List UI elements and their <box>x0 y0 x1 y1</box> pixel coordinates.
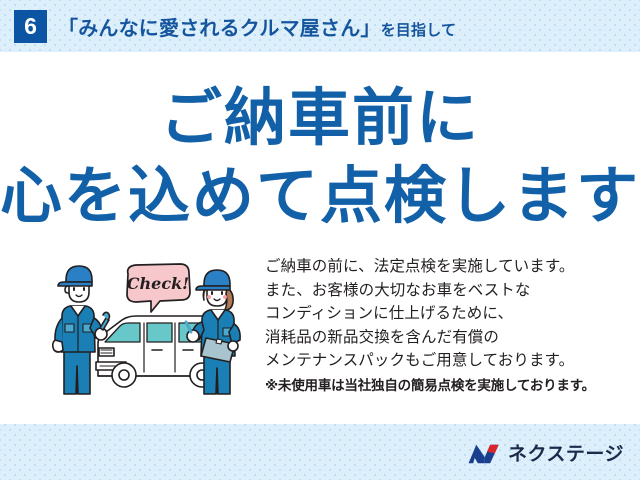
body-note: ※未使用車は当社独自の簡易点検を実施しております。 <box>265 375 620 397</box>
header-title: 「みんなに愛されるクルマ屋さん」を目指して <box>58 12 456 41</box>
header-title-quoted: 「みんなに愛されるクルマ屋さん」 <box>58 18 381 40</box>
body-line: また、お客様の大切なお車をベストな <box>265 279 620 303</box>
content-card: ご納車前に 心を込めて点検します ご納車の前に、法定点検を実施しています。 また… <box>0 52 640 424</box>
header-band: 6 「みんなに愛されるクルマ屋さん」を目指して <box>0 0 640 52</box>
header-title-suffix: を目指して <box>381 22 457 39</box>
body-line: コンディションに仕上げるために、 <box>265 302 620 326</box>
body-copy: ご納車の前に、法定点検を実施しています。 また、お客様の大切なお車をベストな コ… <box>265 255 620 397</box>
check-bubble-text: Check! <box>127 274 189 293</box>
section-number: 6 <box>24 15 37 38</box>
body-line: 消耗品の新品交換を含んだ有償の <box>265 326 620 350</box>
nextage-n-mark <box>467 442 501 466</box>
advertisement-page: 6 「みんなに愛されるクルマ屋さん」を目指して ご納車前に 心を込めて点検します… <box>0 0 640 480</box>
nextage-logo: ネクステージ <box>467 442 624 466</box>
headline-line-1: ご納車前に <box>0 88 640 150</box>
headline-line-2: 心を込めて点検します <box>0 166 640 228</box>
body-line: ご納車の前に、法定点検を実施しています。 <box>265 255 620 279</box>
body-line: メンテナンスパックもご用意しております。 <box>265 349 620 373</box>
mechanics-illustration: Check! <box>52 258 262 398</box>
section-number-badge: 6 <box>14 10 47 43</box>
nextage-wordmark: ネクステージ <box>508 445 624 464</box>
